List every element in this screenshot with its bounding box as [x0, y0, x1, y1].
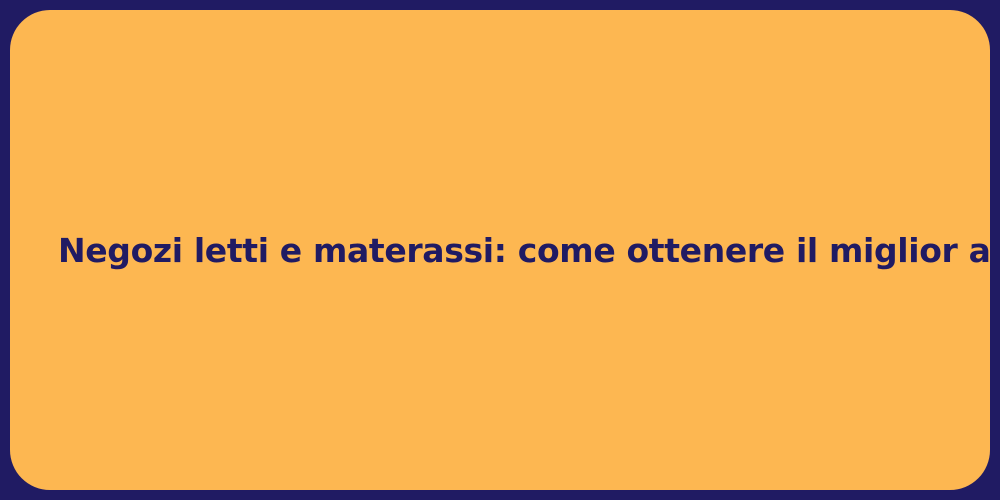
- banner-frame: Negozi letti e materassi: come ottenere …: [0, 0, 1000, 500]
- banner-title: Negozi letti e materassi: come ottenere …: [10, 230, 990, 271]
- banner-card: Negozi letti e materassi: come ottenere …: [10, 10, 990, 490]
